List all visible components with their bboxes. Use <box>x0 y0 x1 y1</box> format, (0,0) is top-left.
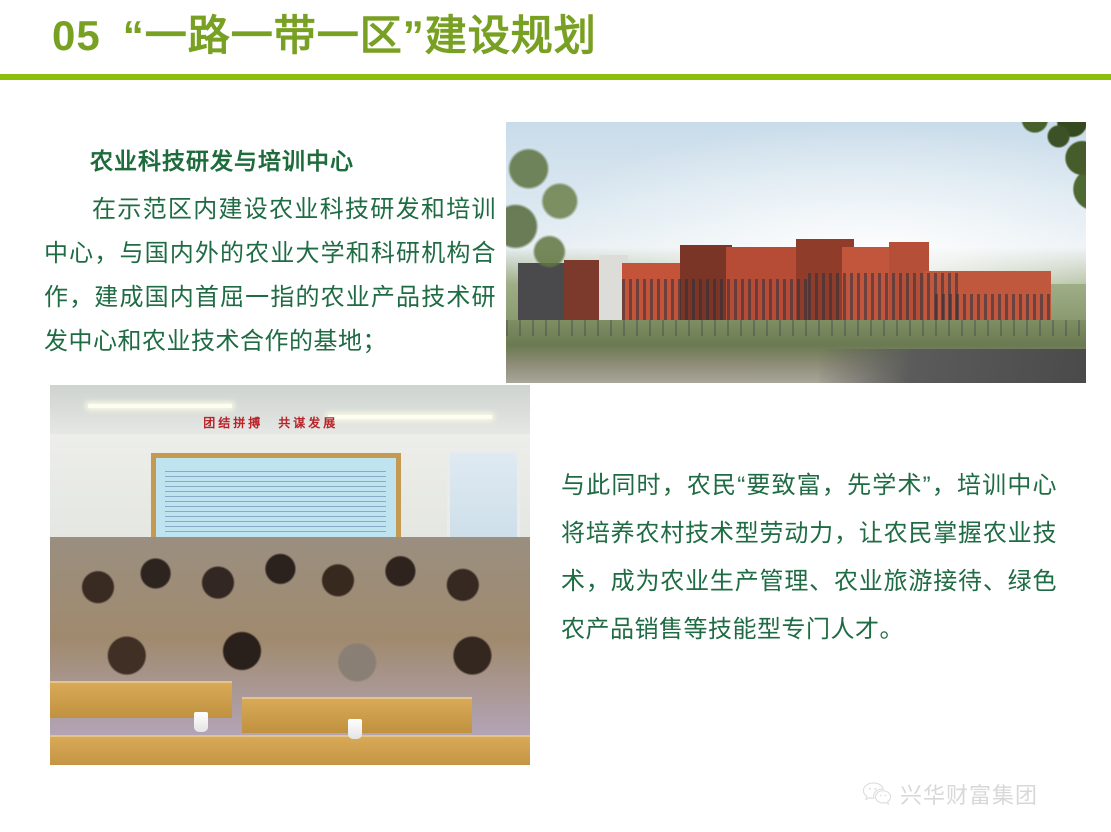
access-road <box>819 349 1086 383</box>
header-divider-rule <box>0 74 1111 80</box>
section-title-text: “一路一带一区”建设规划 <box>123 12 597 59</box>
tree-foliage-right <box>926 122 1086 230</box>
tree-foliage-left <box>506 140 630 320</box>
notice-board-lines <box>165 471 386 532</box>
facade-windows <box>622 279 808 326</box>
right-text-block: 与此同时，农民“要致富，先学术”，培训中心将培养农村技术型劳动力，让农民掌握农业… <box>561 462 1057 654</box>
paper-cup <box>348 719 362 739</box>
left-subheading: 农业科技研发与培训中心 <box>90 144 496 178</box>
classroom-banner-text: 团结拼搏 共谋发展 <box>156 414 386 431</box>
section-number: 05 <box>52 12 101 59</box>
classroom-desk <box>50 735 530 765</box>
watermark-label: 兴华财富集团 <box>900 778 1038 810</box>
left-text-block: 农业科技研发与培训中心 在示范区内建设农业科技研发和培训中心，与国内外的农业大学… <box>44 144 496 364</box>
paper-cup <box>194 712 208 732</box>
slide-header: 05“一路一带一区”建设规划 <box>0 0 1111 80</box>
ceiling-light <box>88 404 232 408</box>
watermark: 兴华财富集团 <box>862 778 1038 810</box>
left-body-paragraph: 在示范区内建设农业科技研发和培训中心，与国内外的农业大学和科研机构合作，建成国内… <box>44 188 496 364</box>
pedestrian-figures <box>506 320 1086 336</box>
campus-rendering-image <box>506 122 1086 383</box>
right-body-paragraph: 与此同时，农民“要致富，先学术”，培训中心将培养农村技术型劳动力，让农民掌握农业… <box>561 462 1057 654</box>
page-title: 05“一路一带一区”建设规划 <box>52 8 597 64</box>
wall-notice-board <box>151 453 401 543</box>
training-classroom-image: 团结拼搏 共谋发展 <box>50 385 530 765</box>
wechat-icon <box>862 781 892 807</box>
